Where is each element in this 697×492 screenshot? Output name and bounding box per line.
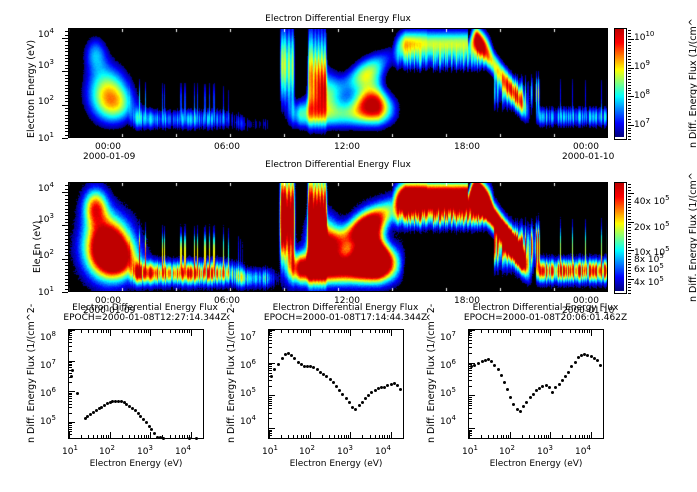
axis-tick (384, 435, 385, 438)
axis-tick (269, 337, 272, 338)
axis-tick (338, 330, 339, 333)
axis-tick (269, 370, 272, 371)
axis-tick (65, 115, 68, 116)
colorbar-tick (628, 204, 631, 205)
line-mid-ytick-3: 107 (240, 330, 256, 343)
axis-tick (297, 435, 298, 438)
axis-tick (144, 330, 145, 333)
axis-tick (65, 252, 68, 253)
line-mid-ytick-0: 104 (240, 414, 256, 427)
colorbar-tick (628, 290, 631, 291)
axis-tick (481, 330, 482, 333)
axis-tick (469, 368, 472, 369)
colorbar-tick (628, 133, 631, 134)
axis-tick (189, 435, 190, 438)
line-left-ytick-0: 105 (40, 414, 56, 427)
axis-tick (469, 337, 472, 338)
data-point (195, 437, 198, 440)
axis-tick (69, 364, 72, 365)
axis-tick (548, 330, 549, 333)
spectrogram-top-xtick-4: 00:00 (573, 142, 599, 152)
axis-tick (469, 331, 472, 332)
figure-canvas: Electron Differential Energy Flux Electr… (0, 0, 697, 492)
spectrogram-mid-cbtick-0: 4x 105 (634, 275, 664, 288)
colorbar-tick (628, 90, 631, 91)
axis-tick (269, 431, 272, 432)
line-left-ytick-3: 108 (40, 330, 56, 343)
data-point (348, 401, 351, 404)
spectrogram-mid-ylabel: Ele En (eV) (32, 221, 43, 273)
colorbar-tick (628, 48, 631, 49)
axis-tick (493, 330, 494, 333)
axis-tick (69, 434, 72, 435)
axis-tick (306, 330, 307, 333)
colorbar-tick (628, 210, 631, 211)
axis-tick (308, 435, 309, 438)
axis-tick (69, 339, 72, 340)
spectrogram-top-ytick-1: 102 (38, 94, 54, 107)
line-left-xtick-3: 104 (175, 444, 191, 457)
axis-tick (346, 435, 347, 438)
line-mid-ylabel: n Diff. Energy Flux (1/(cm^2- (226, 304, 237, 443)
line-mid-xtick-0: 101 (262, 444, 278, 457)
line-left-subtitle: EPOCH=2000-01-08T12:27:14.344Z (55, 313, 235, 323)
spectrogram-mid-ytick-2: 103 (38, 212, 54, 225)
axis-tick (293, 435, 294, 438)
colorbar-tick (628, 79, 631, 80)
axis-tick (129, 435, 130, 438)
data-point (338, 389, 341, 392)
colorbar-tick (628, 276, 631, 277)
spectrogram-top-ylabel: Electron Energy (eV) (26, 40, 37, 138)
axis-tick (469, 401, 472, 402)
axis-tick (281, 435, 282, 438)
colorbar-tick (628, 136, 631, 137)
line-mid-plot-area (268, 329, 404, 439)
axis-tick (346, 330, 347, 333)
data-point (354, 408, 357, 411)
data-point (522, 405, 525, 408)
colorbar-tick (628, 253, 631, 254)
axis-tick (269, 363, 275, 364)
axis-tick (562, 435, 563, 438)
axis-tick (481, 435, 482, 438)
axis-tick (69, 330, 75, 331)
axis-tick (108, 330, 109, 333)
data-point (399, 388, 402, 391)
axis-tick (587, 435, 588, 438)
axis-tick (175, 435, 176, 438)
axis-tick (293, 330, 294, 333)
axis-tick (382, 330, 383, 333)
axis-tick (301, 435, 302, 438)
axis-tick (570, 330, 571, 333)
colorbar-tick (628, 36, 631, 37)
spectrogram-top-cbtick-0: 107 (634, 117, 650, 130)
axis-tick (141, 330, 142, 333)
spectrogram-mid-colorbar (614, 182, 627, 294)
axis-tick (65, 229, 68, 230)
line-right-ytick-2: 106 (440, 358, 456, 371)
axis-tick (65, 285, 68, 286)
axis-tick (350, 432, 351, 438)
axis-tick (341, 435, 342, 438)
data-point (364, 397, 367, 400)
data-point (503, 381, 506, 384)
axis-tick (69, 393, 72, 394)
axis-tick (541, 330, 542, 333)
axis-tick (101, 435, 102, 438)
axis-tick (469, 366, 472, 367)
data-point (558, 383, 561, 386)
axis-tick (65, 249, 68, 250)
axis-tick (103, 330, 104, 333)
line-right-ytick-0: 104 (440, 414, 456, 427)
axis-tick (334, 435, 335, 438)
axis-tick (582, 435, 583, 438)
line-right-plot-area (468, 329, 604, 439)
axis-tick (269, 340, 272, 341)
line-left-xtick-1: 102 (99, 444, 115, 457)
axis-tick (65, 65, 68, 66)
axis-tick (269, 353, 272, 354)
axis-tick (469, 435, 472, 436)
axis-tick (370, 330, 371, 333)
axis-tick (329, 435, 330, 438)
colorbar-tick (628, 62, 631, 63)
axis-tick (184, 435, 185, 438)
axis-tick (187, 330, 188, 333)
axis-tick (550, 330, 551, 336)
data-point (477, 362, 480, 365)
axis-tick (65, 45, 68, 46)
axis-tick (203, 435, 204, 438)
axis-tick (579, 330, 580, 333)
axis-tick (548, 435, 549, 438)
line-left-title: Electron Differential Energy Flux (55, 303, 235, 313)
axis-tick (65, 195, 68, 196)
spectrogram-top-cbtick-3: 1010 (634, 30, 654, 43)
axis-tick (62, 71, 68, 72)
axis-tick (529, 435, 530, 438)
line-right-xtick-3: 104 (575, 444, 591, 457)
axis-tick (110, 432, 111, 438)
axis-tick (65, 135, 68, 136)
colorbar-tick (628, 227, 631, 228)
axis-tick (69, 396, 72, 397)
colorbar-tick (628, 65, 631, 66)
colorbar-tick (628, 128, 631, 129)
axis-tick (603, 435, 604, 438)
axis-tick (341, 330, 342, 333)
axis-tick (310, 330, 311, 336)
colorbar-tick (628, 68, 634, 69)
axis-tick (269, 401, 272, 402)
axis-tick (65, 81, 68, 82)
colorbar-tick (628, 287, 631, 288)
axis-tick (541, 435, 542, 438)
axis-tick (138, 330, 139, 333)
axis-tick (350, 330, 351, 336)
axis-tick (134, 435, 135, 438)
line-mid-title: Electron Differential Energy Flux (248, 303, 443, 313)
spectrogram-top-xtick-3: 18:00 (454, 142, 480, 152)
axis-tick (550, 432, 551, 438)
colorbar-tick (628, 70, 631, 71)
axis-tick (65, 98, 68, 99)
axis-tick (97, 435, 98, 438)
axis-tick (122, 330, 123, 333)
colorbar-tick (628, 256, 631, 257)
axis-tick (69, 391, 75, 392)
axis-tick (469, 430, 472, 431)
axis-tick (362, 330, 363, 333)
colorbar-tick (628, 273, 631, 274)
axis-tick (65, 269, 68, 270)
colorbar-tick (628, 196, 631, 197)
axis-tick (69, 361, 75, 362)
axis-tick (97, 330, 98, 333)
axis-tick (544, 435, 545, 438)
data-point (345, 397, 348, 400)
axis-tick (469, 386, 472, 387)
colorbar-tick (628, 239, 631, 240)
colorbar-tick (628, 250, 634, 251)
colorbar-tick (628, 184, 631, 185)
axis-tick (69, 422, 75, 423)
axis-tick (269, 399, 272, 400)
axis-tick (344, 435, 345, 438)
axis-tick (69, 335, 72, 336)
axis-tick (301, 330, 302, 333)
axis-tick (303, 330, 304, 333)
axis-tick (69, 362, 72, 363)
line-right-subtitle: EPOCH=2000-01-08T20:06:01.462Z (448, 313, 643, 323)
axis-tick (269, 376, 272, 377)
data-point (145, 421, 148, 424)
axis-tick (65, 41, 68, 42)
axis-tick (69, 346, 72, 347)
axis-tick (69, 377, 72, 378)
axis-tick (69, 394, 72, 395)
axis-tick (338, 435, 339, 438)
spectrogram-top-ytick-3: 104 (38, 27, 54, 40)
axis-tick (65, 215, 68, 216)
axis-tick (501, 330, 502, 333)
colorbar-tick (628, 190, 631, 191)
axis-tick (146, 330, 147, 333)
axis-tick (469, 403, 472, 404)
data-point (570, 365, 573, 368)
axis-tick (493, 435, 494, 438)
line-mid-xlabel: Electron Energy (eV) (256, 459, 416, 469)
data-point (586, 354, 589, 357)
axis-tick (65, 108, 68, 109)
axis-tick (129, 330, 130, 333)
axis-tick (88, 330, 89, 333)
line-mid-xtick-2: 103 (337, 444, 353, 457)
axis-tick (497, 435, 498, 438)
axis-tick (269, 397, 272, 398)
spectrogram-mid-ytick-1: 102 (38, 248, 54, 261)
axis-tick (93, 330, 94, 333)
axis-tick (65, 101, 68, 102)
axis-tick (170, 435, 171, 438)
colorbar-tick (628, 53, 631, 54)
axis-tick (469, 413, 472, 414)
axis-tick (65, 255, 68, 256)
axis-tick (69, 401, 72, 402)
spectrogram-top-xtick-1: 06:00 (214, 142, 240, 152)
axis-tick (269, 343, 272, 344)
data-point (577, 356, 580, 359)
colorbar-tick (628, 262, 631, 263)
colorbar-tick (628, 284, 631, 285)
axis-tick (269, 331, 272, 332)
colorbar-tick (628, 199, 631, 200)
axis-tick (62, 38, 68, 39)
colorbar-tick (628, 113, 631, 114)
data-point (554, 386, 557, 389)
colorbar-tick (628, 267, 631, 268)
axis-tick (322, 435, 323, 438)
spectrogram-mid-frame (68, 182, 608, 292)
axis-tick (69, 407, 72, 408)
line-mid-xtick-1: 102 (299, 444, 315, 457)
axis-tick (62, 138, 68, 139)
axis-tick (403, 330, 404, 333)
axis-tick (69, 404, 72, 405)
axis-tick (69, 413, 72, 414)
axis-tick (269, 330, 275, 331)
axis-tick (303, 435, 304, 438)
colorbar-tick (628, 216, 631, 217)
axis-tick (65, 131, 68, 132)
axis-tick (269, 430, 272, 431)
data-point (490, 360, 493, 363)
axis-tick (65, 78, 68, 79)
spectrogram-mid-cbtick-1: 6x 105 (634, 262, 664, 275)
axis-tick (269, 335, 272, 336)
axis-tick (506, 435, 507, 438)
axis-tick (65, 272, 68, 273)
data-point (512, 403, 515, 406)
axis-tick (69, 398, 72, 399)
colorbar-tick (628, 293, 631, 294)
axis-tick (65, 232, 68, 233)
colorbar-tick (628, 279, 634, 280)
axis-tick (69, 367, 72, 368)
colorbar-tick (628, 264, 631, 265)
axis-tick (269, 438, 272, 439)
axis-tick (65, 91, 68, 92)
data-point (92, 411, 95, 414)
data-point (473, 364, 476, 367)
line-mid-subtitle: EPOCH=2000-01-08T17:14:44.344Z (248, 313, 443, 323)
spectrogram-top-frame (68, 28, 608, 138)
colorbar-tick (628, 42, 631, 43)
colorbar-tick (628, 187, 631, 188)
axis-tick (69, 427, 72, 428)
axis-tick (203, 330, 204, 333)
line-right-xtick-1: 102 (499, 444, 515, 457)
data-point (500, 374, 503, 377)
axis-tick (384, 330, 385, 333)
colorbar-tick (628, 99, 631, 100)
axis-tick (375, 435, 376, 438)
colorbar-tick (628, 116, 631, 117)
data-point (329, 378, 332, 381)
data-point (361, 401, 364, 404)
axis-tick (110, 330, 111, 336)
colorbar-tick (628, 110, 631, 111)
axis-tick (65, 51, 68, 52)
axis-tick (148, 435, 149, 438)
axis-tick (269, 435, 272, 436)
axis-tick (269, 433, 272, 434)
axis-tick (65, 282, 68, 283)
axis-tick (144, 435, 145, 438)
axis-tick (544, 330, 545, 333)
axis-tick (288, 330, 289, 333)
axis-tick (579, 435, 580, 438)
axis-tick (269, 405, 272, 406)
colorbar-tick (628, 193, 634, 194)
line-left-xlabel: Electron Energy (eV) (56, 459, 216, 469)
axis-tick (469, 433, 472, 434)
line-right-ylabel: n Diff. Energy Flux (1/(cm^2- (426, 304, 437, 443)
axis-tick (510, 330, 511, 336)
colorbar-tick (628, 207, 631, 208)
axis-tick (469, 438, 472, 439)
spectrogram-mid-title: Electron Differential Energy Flux (68, 160, 608, 170)
axis-tick (297, 330, 298, 333)
axis-tick (538, 330, 539, 333)
data-point (325, 375, 328, 378)
line-right-ytick-3: 107 (440, 330, 456, 343)
axis-tick (69, 331, 72, 332)
axis-tick (62, 225, 68, 226)
axis-tick (65, 75, 68, 76)
axis-tick (146, 435, 147, 438)
spectrogram-mid-ytick-0: 101 (38, 285, 54, 298)
data-point (548, 386, 551, 389)
axis-tick (81, 435, 82, 438)
axis-tick (506, 330, 507, 333)
axis-tick (69, 351, 72, 352)
axis-tick (65, 279, 68, 280)
axis-tick (469, 333, 472, 334)
colorbar-tick (628, 30, 631, 31)
spectrogram-top-ytick-2: 103 (38, 58, 54, 71)
colorbar-tick (628, 45, 631, 46)
axis-tick (69, 337, 72, 338)
axis-tick (81, 330, 82, 333)
axis-tick (150, 330, 151, 336)
axis-tick (329, 330, 330, 333)
axis-tick (269, 408, 272, 409)
axis-tick (497, 330, 498, 333)
spectrogram-top-cbtick-2: 109 (634, 59, 650, 72)
axis-tick (69, 438, 72, 439)
axis-tick (508, 330, 509, 333)
axis-tick (65, 289, 68, 290)
axis-tick (187, 435, 188, 438)
axis-tick (348, 330, 349, 333)
axis-tick (65, 55, 68, 56)
axis-tick (522, 435, 523, 438)
data-point (335, 385, 338, 388)
